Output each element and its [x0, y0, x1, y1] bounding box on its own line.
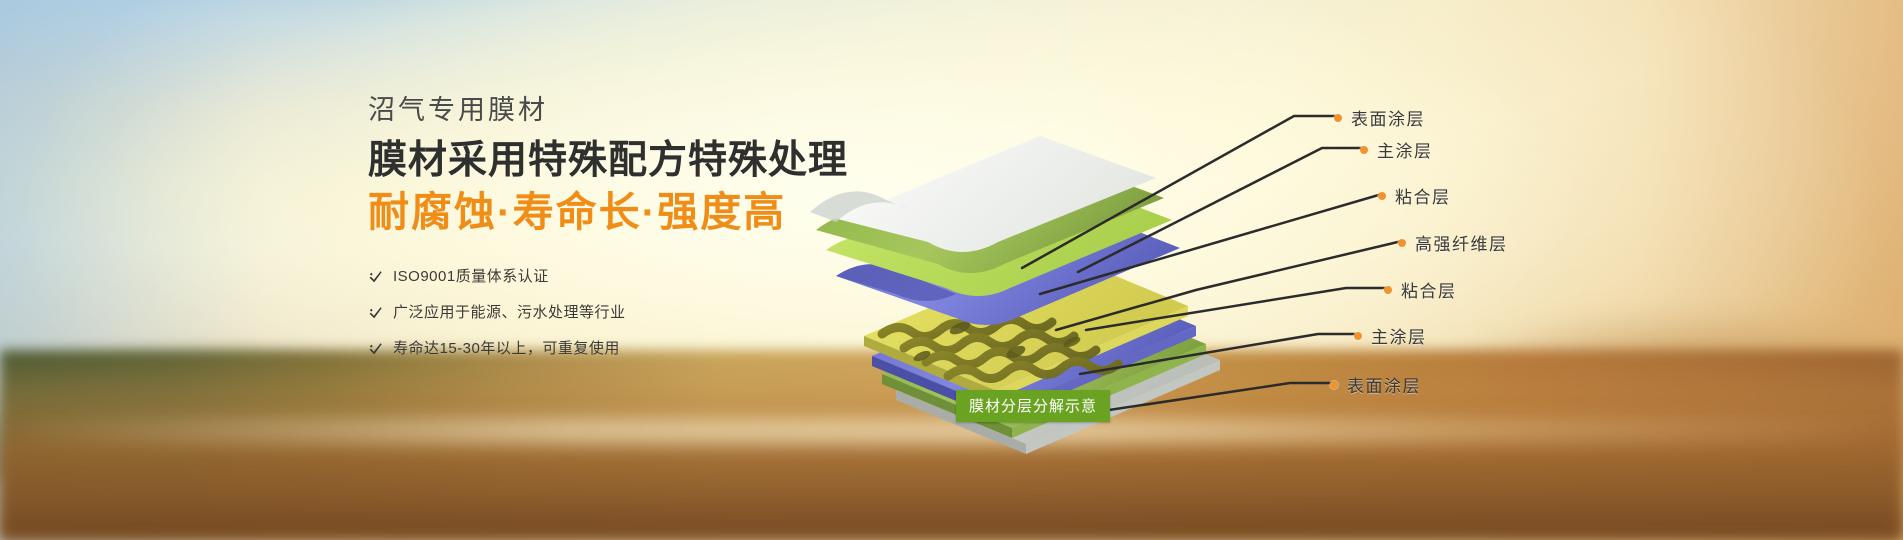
callout-adhesive-bottom: 粘合层: [1384, 277, 1457, 302]
callout-label: 粘合层: [1395, 183, 1451, 208]
callout-main-coat-top: 主涂层: [1360, 137, 1433, 162]
callout-label: 主涂层: [1377, 137, 1433, 162]
diagram-badge: 膜材分层分解示意: [956, 390, 1110, 422]
callout-dot-icon: [1384, 286, 1392, 294]
callout-surface-coat-bottom: 表面涂层: [1330, 372, 1421, 397]
list-item-label: 广泛应用于能源、污水处理等行业: [393, 301, 626, 322]
callout-surface-coat-top: 表面涂层: [1334, 105, 1425, 130]
callout-fibre-core: 高强纤维层: [1398, 230, 1508, 255]
membrane-layer-illustration: [660, 60, 1220, 460]
callout-label: 表面涂层: [1351, 105, 1425, 130]
callout-adhesive-top: 粘合层: [1378, 183, 1451, 208]
callout-label: 主涂层: [1371, 323, 1427, 348]
list-item-label: ISO9001质量体系认证: [393, 265, 549, 286]
callout-label: 粘合层: [1401, 277, 1457, 302]
callout-dot-icon: [1398, 239, 1406, 247]
callout-label: 表面涂层: [1347, 372, 1421, 397]
callout-dot-icon: [1360, 146, 1368, 154]
callout-main-coat-bottom: 主涂层: [1354, 323, 1427, 348]
check-icon: [368, 341, 383, 356]
callout-dot-icon: [1334, 114, 1342, 122]
check-icon: [368, 269, 383, 284]
check-icon: [368, 305, 383, 320]
callout-dot-icon: [1378, 192, 1386, 200]
hero-banner: 沼气专用膜材 膜材采用特殊配方特殊处理 耐腐蚀·寿命长·强度高 ISO9001质…: [0, 0, 1903, 540]
callout-dot-icon: [1354, 332, 1362, 340]
list-item-label: 寿命达15-30年以上，可重复使用: [393, 337, 620, 358]
callout-label: 高强纤维层: [1415, 230, 1508, 255]
callout-dot-icon: [1330, 381, 1338, 389]
